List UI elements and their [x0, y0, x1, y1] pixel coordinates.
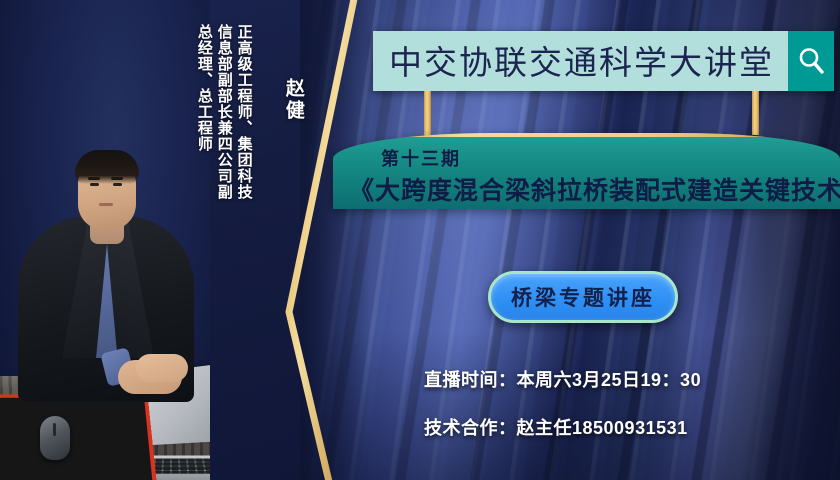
- episode-topic: 《大跨度混合梁斜拉桥装配式建造关键技术》: [349, 171, 840, 207]
- eyebrow-left: [88, 177, 100, 180]
- program-title-banner: 中交协联交通科学大讲堂: [373, 31, 834, 91]
- poster-canvas: 正高级工程师、集团科技 信息部副部长兼四公司副 总经理、总工程师 赵健 中交协联…: [0, 0, 840, 480]
- eye-right: [113, 183, 122, 186]
- eyebrow-right: [111, 177, 123, 180]
- credential-line-2: 信息部副部长兼四公司副: [216, 24, 232, 200]
- search-icon-glyph: [797, 46, 825, 76]
- hand-right: [136, 354, 188, 382]
- speaker-credentials: 正高级工程师、集团科技 信息部副部长兼四公司副 总经理、总工程师: [196, 24, 252, 200]
- contact-line: 技术合作：赵主任18500931531: [424, 414, 701, 440]
- computer-mouse: [40, 416, 70, 460]
- credential-line-3: 总经理、总工程师: [196, 24, 212, 152]
- speaker-figure: [18, 102, 194, 402]
- broadcast-info: 直播时间：本周六3月25日19：30 技术合作：赵主任18500931531: [424, 366, 701, 462]
- eye-left: [90, 183, 99, 186]
- connector-stem-left: [424, 91, 431, 137]
- category-badge-label: 桥梁专题讲座: [511, 282, 655, 312]
- live-time-line: 直播时间：本周六3月25日19：30: [424, 366, 701, 392]
- episode-banner: 第十三期 《大跨度混合梁斜拉桥装配式建造关键技术》: [333, 133, 840, 209]
- connector-stem-right: [752, 91, 759, 135]
- speaker-photo: [0, 0, 210, 480]
- search-icon[interactable]: [788, 31, 834, 91]
- episode-number: 第十三期: [381, 145, 461, 171]
- speaker-name: 赵健: [282, 78, 303, 122]
- hair: [75, 150, 139, 184]
- category-badge[interactable]: 桥梁专题讲座: [488, 271, 678, 323]
- credential-line-1: 正高级工程师、集团科技: [236, 24, 252, 200]
- mousepad: [0, 394, 157, 480]
- mouth: [99, 203, 113, 206]
- program-title: 中交协联交通科学大讲堂: [373, 31, 788, 91]
